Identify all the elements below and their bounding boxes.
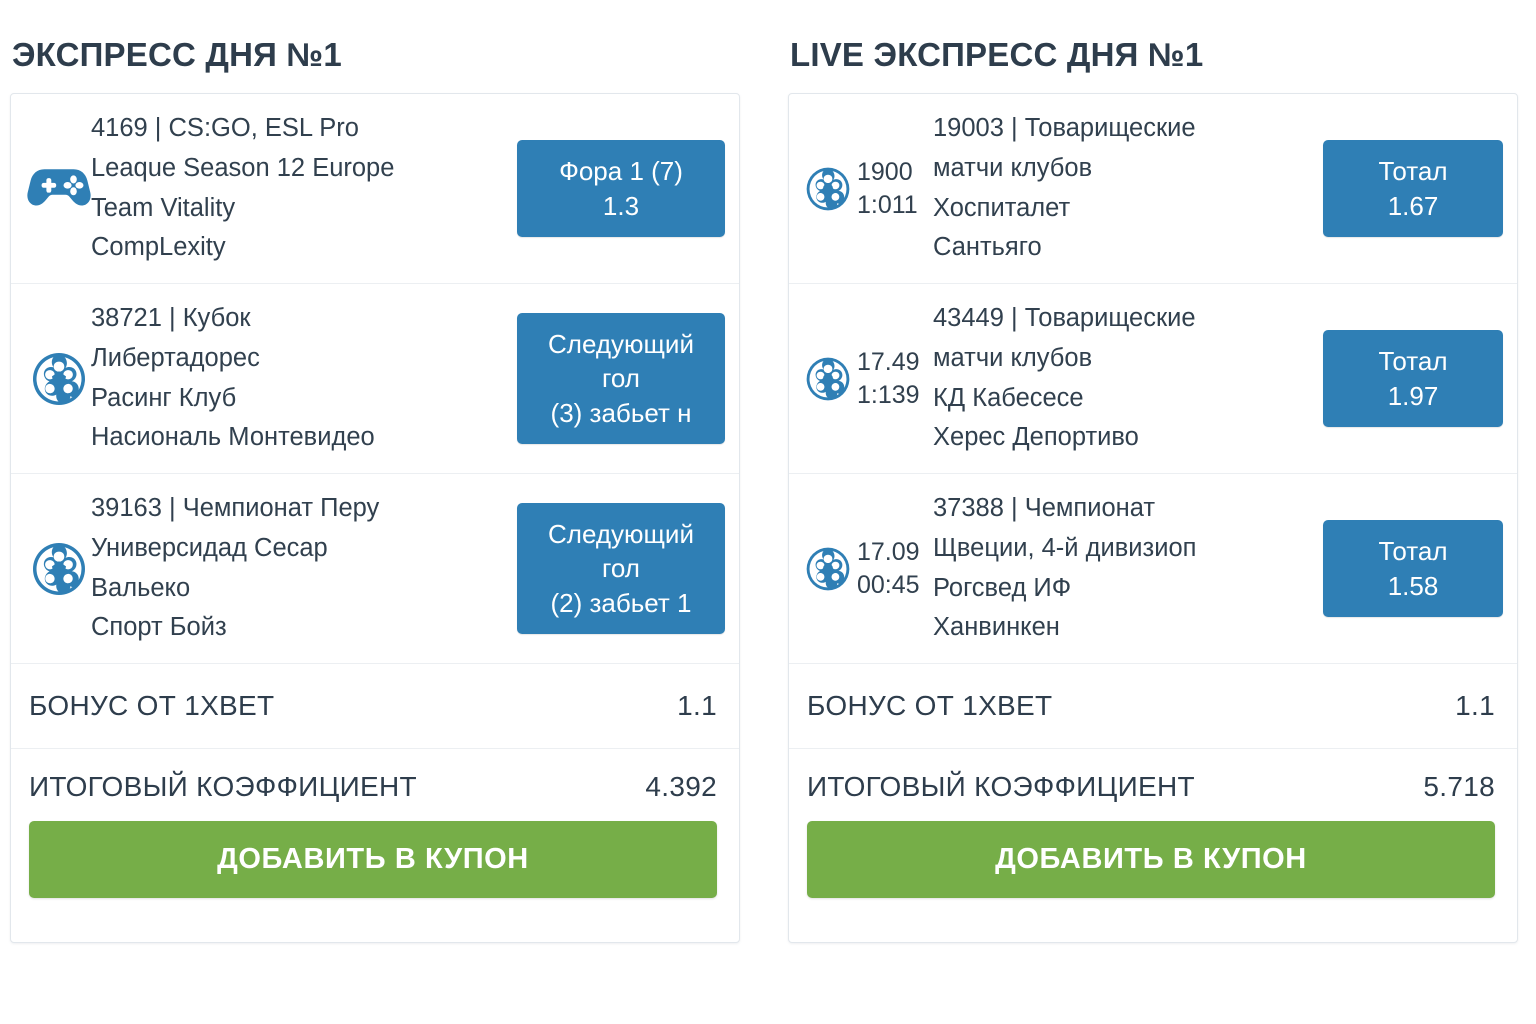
add-to-coupon-button[interactable]: ДОБАВИТЬ В КУПОН <box>29 821 717 898</box>
bonus-value: 1.1 <box>1455 690 1495 722</box>
match-time-block: 1900 1:011 <box>857 156 933 222</box>
event-line-4: Насиональ Монтевидео <box>91 418 503 458</box>
bet-market-label-2: гол <box>523 361 719 396</box>
total-label: ИТОГОВЫЙ КОЭФФИЦИЕНТ <box>807 771 1195 803</box>
total-value: 4.392 <box>645 771 717 803</box>
event-line-2: Щвеции, 4-й дивизиоп <box>933 529 1309 569</box>
event-line-1: 43449 | Товарищеские <box>933 299 1309 339</box>
event-line-3: Вальеко <box>91 569 503 609</box>
match-live-clock: 00:45 <box>857 571 920 599</box>
event-line-2: матчи клубов <box>933 339 1309 379</box>
bonus-row: БОНУС ОТ 1ХBET 1.1 <box>789 664 1517 749</box>
event-line-1: 4169 | CS:GO, ESL Pro <box>91 109 503 149</box>
event-description: 39163 | Чемпионат Перу Универсидад Сесар… <box>91 489 511 647</box>
bet-odd-button[interactable]: Тотал 1.58 <box>1323 520 1503 617</box>
bet-market-label-2: гол <box>523 551 719 586</box>
bet-odd-value: (2) забьет 1 <box>523 586 719 621</box>
add-to-coupon-button[interactable]: ДОБАВИТЬ В КУПОН <box>807 821 1495 898</box>
match-live-clock: 1:139 <box>857 381 920 409</box>
table-row[interactable]: 39163 | Чемпионат Перу Универсидад Сесар… <box>11 474 739 664</box>
coupon-card-live: 1900 1:011 19003 | Товарищеские матчи кл… <box>788 93 1518 943</box>
total-block: ИТОГОВЫЙ КОЭФФИЦИЕНТ 4.392 ДОБАВИТЬ В КУ… <box>11 749 739 924</box>
event-line-4: Спорт Бойз <box>91 608 503 648</box>
event-line-4: Ханвинкен <box>933 608 1309 648</box>
bet-odd-button[interactable]: Следующий гол (3) забьет н <box>517 313 725 445</box>
event-description: 19003 | Товарищеские матчи клубов Хоспит… <box>933 109 1317 267</box>
bet-odd-button[interactable]: Фора 1 (7) 1.3 <box>517 140 725 237</box>
gamepad-icon <box>27 162 91 216</box>
soccer-ball-icon <box>27 351 91 407</box>
match-time-block: 17.49 1:139 <box>857 346 933 412</box>
event-line-1: 19003 | Товарищеские <box>933 109 1309 149</box>
bet-odd-button[interactable]: Следующий гол (2) забьет 1 <box>517 503 725 635</box>
event-line-4: Херес Депортиво <box>933 418 1309 458</box>
event-line-1: 39163 | Чемпионат Перу <box>91 489 503 529</box>
match-start-time: 17.49 <box>857 348 920 376</box>
bet-odd-button[interactable]: Тотал 1.67 <box>1323 140 1503 237</box>
soccer-ball-icon <box>805 354 851 404</box>
bonus-value: 1.1 <box>677 690 717 722</box>
total-row: ИТОГОВЫЙ КОЭФФИЦИЕНТ 5.718 <box>807 771 1495 803</box>
bet-market-label: Тотал <box>1329 344 1497 379</box>
soccer-ball-icon <box>805 164 851 214</box>
bonus-row: БОНУС ОТ 1ХBET 1.1 <box>11 664 739 749</box>
bet-market-label: Тотал <box>1329 534 1497 569</box>
match-start-time: 17.09 <box>857 538 920 566</box>
table-row[interactable]: 4169 | CS:GO, ESL Pro Leaque Season 12 E… <box>11 94 739 284</box>
bet-market-label: Фора 1 (7) <box>523 154 719 189</box>
bet-odd-value: 1.3 <box>523 189 719 224</box>
event-line-4: Сантьяго <box>933 228 1309 268</box>
total-row: ИТОГОВЫЙ КОЭФФИЦИЕНТ 4.392 <box>29 771 717 803</box>
card-bottom-spacer <box>789 924 1517 942</box>
bet-odd-value: 1.67 <box>1329 189 1497 224</box>
event-line-3: Расинг Клуб <box>91 379 503 419</box>
bonus-label: БОНУС ОТ 1ХBET <box>807 690 1052 722</box>
event-line-2: Либертадорес <box>91 339 503 379</box>
page-title-live: LIVE ЭКСПРЕСС ДНЯ №1 <box>790 38 1518 71</box>
bet-odd-value: 1.97 <box>1329 379 1497 414</box>
table-row[interactable]: 38721 | Кубок Либертадорес Расинг Клуб Н… <box>11 284 739 474</box>
bet-market-label: Следующий <box>523 517 719 552</box>
soccer-ball-icon <box>27 541 91 597</box>
total-block: ИТОГОВЫЙ КОЭФФИЦИЕНТ 5.718 ДОБАВИТЬ В КУ… <box>789 749 1517 924</box>
event-line-4: CompLexity <box>91 228 503 268</box>
event-line-3: Хоспиталет <box>933 189 1309 229</box>
match-time-block: 17.09 00:45 <box>857 536 933 602</box>
table-row[interactable]: 17.09 00:45 37388 | Чемпионат Щвеции, 4-… <box>789 474 1517 664</box>
event-description: 37388 | Чемпионат Щвеции, 4-й дивизиоп Р… <box>933 489 1317 647</box>
bonus-label: БОНУС ОТ 1ХBET <box>29 690 274 722</box>
bet-odd-value: (3) забьет н <box>523 396 719 431</box>
event-line-2: Универсидад Сесар <box>91 529 503 569</box>
express-of-the-day-board: ЭКСПРЕСС ДНЯ №1 4169 | CS:GO, <box>0 0 1536 1024</box>
match-live-clock: 1:011 <box>857 191 918 219</box>
match-start-time: 1900 <box>857 158 913 186</box>
event-line-3: Team Vitality <box>91 189 503 229</box>
total-label: ИТОГОВЫЙ КОЭФФИЦИЕНТ <box>29 771 417 803</box>
bet-market-label: Следующий <box>523 327 719 362</box>
table-row[interactable]: 17.49 1:139 43449 | Товарищеские матчи к… <box>789 284 1517 474</box>
bet-odd-button[interactable]: Тотал 1.97 <box>1323 330 1503 427</box>
event-line-2: Leaque Season 12 Europe <box>91 149 503 189</box>
event-description: 43449 | Товарищеские матчи клубов КД Каб… <box>933 299 1317 457</box>
event-line-1: 38721 | Кубок <box>91 299 503 339</box>
express-panel-live: LIVE ЭКСПРЕСС ДНЯ №1 1900 1:011 <box>768 0 1536 1024</box>
event-line-3: КД Кабесесе <box>933 379 1309 419</box>
event-line-2: матчи клубов <box>933 149 1309 189</box>
table-row[interactable]: 1900 1:011 19003 | Товарищеские матчи кл… <box>789 94 1517 284</box>
event-description: 38721 | Кубок Либертадорес Расинг Клуб Н… <box>91 299 511 457</box>
total-value: 5.718 <box>1423 771 1495 803</box>
page-title-prematch: ЭКСПРЕСС ДНЯ №1 <box>12 38 740 71</box>
express-panel-prematch: ЭКСПРЕСС ДНЯ №1 4169 | CS:GO, <box>0 0 768 1024</box>
event-line-1: 37388 | Чемпионат <box>933 489 1309 529</box>
event-line-3: Рогсвед ИФ <box>933 569 1309 609</box>
event-description: 4169 | CS:GO, ESL Pro Leaque Season 12 E… <box>91 109 511 267</box>
bet-market-label: Тотал <box>1329 154 1497 189</box>
coupon-card-prematch: 4169 | CS:GO, ESL Pro Leaque Season 12 E… <box>10 93 740 943</box>
bet-odd-value: 1.58 <box>1329 569 1497 604</box>
card-bottom-spacer <box>11 924 739 942</box>
soccer-ball-icon <box>805 544 851 594</box>
